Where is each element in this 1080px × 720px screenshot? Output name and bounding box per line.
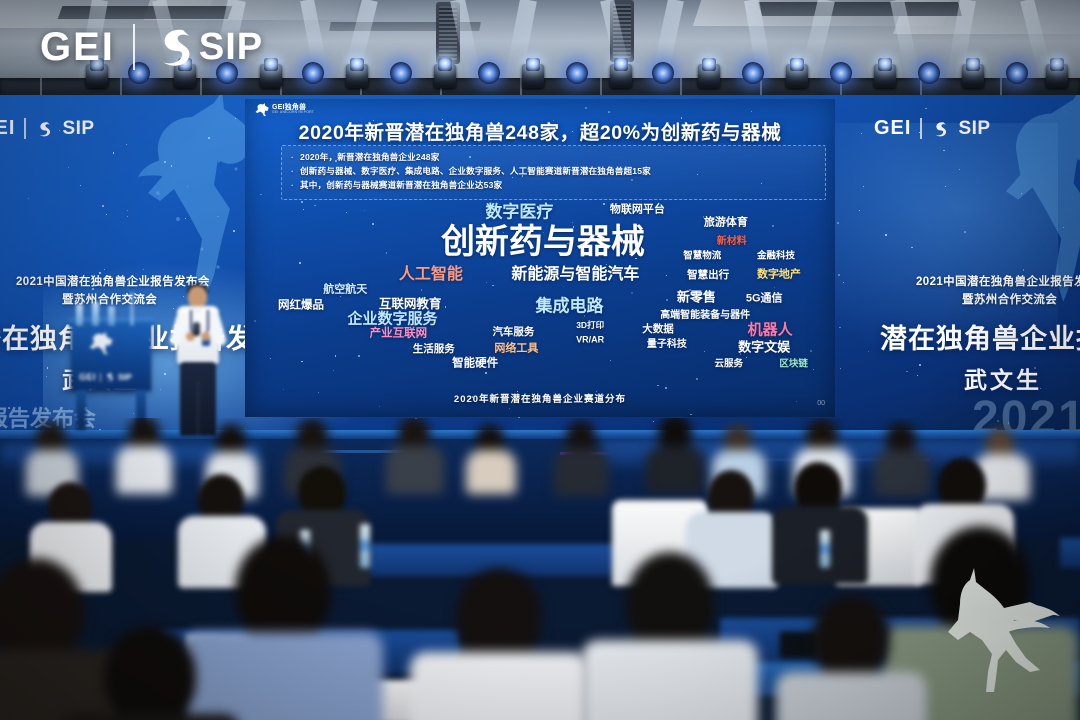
word-cloud-term: 企业数字服务 <box>347 312 437 327</box>
pegasus-icon <box>254 103 269 116</box>
logo-divider-right <box>920 118 922 139</box>
water-bottle <box>108 306 115 326</box>
podium-sip-swirl-icon <box>105 372 114 382</box>
bullet-text: 创新药与器械、数字医疗、集成电路、企业数字服务、人工智能赛道新晋潜在独角兽超15… <box>300 165 651 179</box>
word-cloud-term: 航空航天 <box>323 284 367 295</box>
word-cloud-term: VR/AR <box>576 335 604 344</box>
sparkle-dot <box>585 107 586 108</box>
sparkle-dot <box>283 389 284 390</box>
moving-head-light <box>520 56 546 90</box>
sip-wordmark-left: SIP <box>62 118 94 140</box>
led-par-light <box>566 62 588 84</box>
logo-divider-left <box>24 118 26 139</box>
sparkle-dot <box>260 194 262 196</box>
event-headline-right: 潜在独角兽企业报告发布 <box>880 317 1080 356</box>
sip-wordmark-right: SIP <box>958 118 990 140</box>
word-cloud-term: 机器人 <box>748 323 793 338</box>
gei-wordmark: GEI <box>40 25 115 70</box>
bullet-item: · 创新药与器械、数字医疗、集成电路、企业数字服务、人工智能赛道新晋潜在独角兽超… <box>291 165 816 179</box>
word-cloud-term: 云服务 <box>715 359 744 369</box>
logo-divider <box>133 24 135 70</box>
slide-logo-subtitle: GEI UNICORN REPORT <box>272 111 314 114</box>
word-cloud-term: 集成电路 <box>536 298 604 315</box>
sparkle-dot <box>665 387 667 389</box>
bullet-text: 其中，创新药与器械赛道新晋潜在独角兽企业达53家 <box>300 179 502 193</box>
podium-pegasus-icon <box>87 331 113 355</box>
gei-wordmark-right: GEI <box>874 117 911 140</box>
moving-head-light <box>1044 56 1070 90</box>
sparkle-dot <box>509 408 510 409</box>
water-bottle <box>92 302 99 326</box>
slide-brand-logo: GEI独角兽 GEI UNICORN REPORT <box>254 103 314 116</box>
word-cloud-term: 数字文娱 <box>738 341 790 354</box>
moving-head-light <box>432 56 458 90</box>
moving-head-light <box>784 56 810 90</box>
presenter <box>172 286 224 436</box>
event-title-line2-right: 暨苏州合作交流会 <box>962 291 1057 307</box>
sip-swirl-icon-left <box>35 120 53 138</box>
moving-head-light <box>872 56 898 90</box>
slide-caption: 2020年新晋潜在独角兽企业赛道分布 <box>245 391 835 405</box>
podium-gei: GEI <box>79 372 96 382</box>
venue-top-logo: GEI SIP <box>40 24 263 70</box>
word-cloud-term: 网络工具 <box>494 343 538 354</box>
table-row <box>1060 538 1080 568</box>
bullet-item: · 其中，创新药与器械赛道新晋潜在独角兽企业达53家 <box>291 179 816 193</box>
led-par-light <box>652 62 674 84</box>
sip-wordmark: SIP <box>199 26 263 69</box>
microphone-stand <box>130 292 134 326</box>
slide-title: 2020年新晋潜在独角兽248家，超20%为创新药与器械 <box>245 116 835 145</box>
podium-logo: GEI SIP <box>79 372 132 382</box>
word-cloud-term: 新零售 <box>677 291 716 304</box>
speaker-podium: GEI SIP <box>68 318 154 430</box>
word-cloud-term: 旅游体育 <box>704 218 748 229</box>
word-cloud-term: 智能硬件 <box>452 358 498 370</box>
word-cloud-term: 新能源与智能汽车 <box>511 267 639 283</box>
sparkle-dot <box>657 385 659 387</box>
led-par-light <box>478 62 500 84</box>
word-cloud-term: 互联网教育 <box>379 298 442 311</box>
word-cloud-term: 数字医疗 <box>485 203 553 220</box>
led-par-light <box>918 62 940 84</box>
slide-bullet-list: · 2020年，新晋潜在独角兽企业248家 · 创新药与器械、数字医疗、集成电路… <box>281 145 826 200</box>
word-cloud-term: 高端智能装备与器件 <box>660 311 750 321</box>
side-panel-logo-right: GEI SIP <box>874 117 991 140</box>
word-cloud-term: 生活服务 <box>413 344 455 355</box>
word-cloud-term: 智慧物流 <box>683 252 721 262</box>
water-bottle <box>76 304 83 326</box>
water-bottle <box>360 524 370 568</box>
word-cloud-term: 大数据 <box>642 323 674 334</box>
bullet-dot: · <box>291 165 294 179</box>
led-par-light <box>830 62 852 84</box>
word-cloud-term: 金融科技 <box>757 252 795 262</box>
word-cloud-term: 5G通信 <box>746 293 783 304</box>
word-cloud-term: 智慧出行 <box>687 270 729 281</box>
handheld-microphone <box>193 322 200 336</box>
slide-page-number: 00 <box>817 400 825 407</box>
sip-swirl-icon-right <box>931 120 949 138</box>
word-cloud-term: 网红爆品 <box>278 301 324 313</box>
word-cloud-term: 物联网平台 <box>610 205 665 216</box>
podium-divider <box>100 373 101 382</box>
sip-swirl-icon <box>153 24 195 70</box>
word-cloud-term: 新材料 <box>717 237 747 247</box>
word-cloud-term: 区块链 <box>779 359 808 369</box>
word-cloud-term: 量子科技 <box>647 340 687 350</box>
moving-head-light <box>608 56 634 90</box>
moving-head-light <box>960 56 986 90</box>
gei-wordmark-left: GEI <box>0 117 15 140</box>
podium-sip: SIP <box>118 372 132 382</box>
word-cloud-term: 创新药与器械 <box>441 225 645 259</box>
bullet-text: 2020年，新晋潜在独角兽企业248家 <box>300 151 439 165</box>
pegasus-unicorn-watermark <box>934 566 1066 694</box>
audience-area <box>0 418 1080 720</box>
led-par-light <box>302 62 324 84</box>
presenter-hand-right <box>201 332 210 341</box>
moving-head-light <box>344 56 370 90</box>
sparkle-dot <box>751 111 752 112</box>
bullet-dot: · <box>291 151 294 165</box>
led-par-light <box>1006 62 1028 84</box>
stage-led-wall: GEI SIP 2021中国潜在独角兽企业报告发布会 暨苏州合作交流会 潜在独角… <box>0 95 1080 440</box>
sparkle-dot <box>608 111 610 113</box>
conference-photo: GEI SIP <box>0 0 1080 720</box>
moving-head-light <box>696 56 722 90</box>
word-cloud-term: 3D打印 <box>576 321 604 330</box>
water-bottle <box>820 530 830 568</box>
word-cloud: 创新药与器械数字医疗物联网平台旅游体育新材料智慧物流金融科技人工智能新能源与智能… <box>245 199 835 384</box>
led-par-light <box>742 62 764 84</box>
event-title-line1-right: 2021中国潜在独角兽企业报告发布会 <box>916 273 1080 289</box>
presentation-slide: GEI独角兽 GEI UNICORN REPORT 2020年新晋潜在独角兽24… <box>245 99 835 417</box>
word-cloud-term: 汽车服务 <box>492 327 534 338</box>
word-cloud-term: 人工智能 <box>399 267 463 283</box>
word-cloud-term: 产业互联网 <box>370 328 428 340</box>
bullet-item: · 2020年，新晋潜在独角兽企业248家 <box>291 151 816 165</box>
led-wall-right-panel: GEI SIP 2021中国潜在独角兽企业报告发布会 暨苏州合作交流会 潜在独角… <box>822 95 1080 440</box>
led-par-light <box>390 62 412 84</box>
sparkle-dot <box>690 414 692 416</box>
presenter-head <box>188 286 207 308</box>
side-panel-logo-left: GEI SIP <box>0 117 95 140</box>
word-cloud-term: 数字地产 <box>757 269 801 280</box>
speaker-name-right: 武文生 <box>964 361 1042 395</box>
bullet-dot: · <box>291 179 294 193</box>
sparkle-dot <box>379 406 380 407</box>
